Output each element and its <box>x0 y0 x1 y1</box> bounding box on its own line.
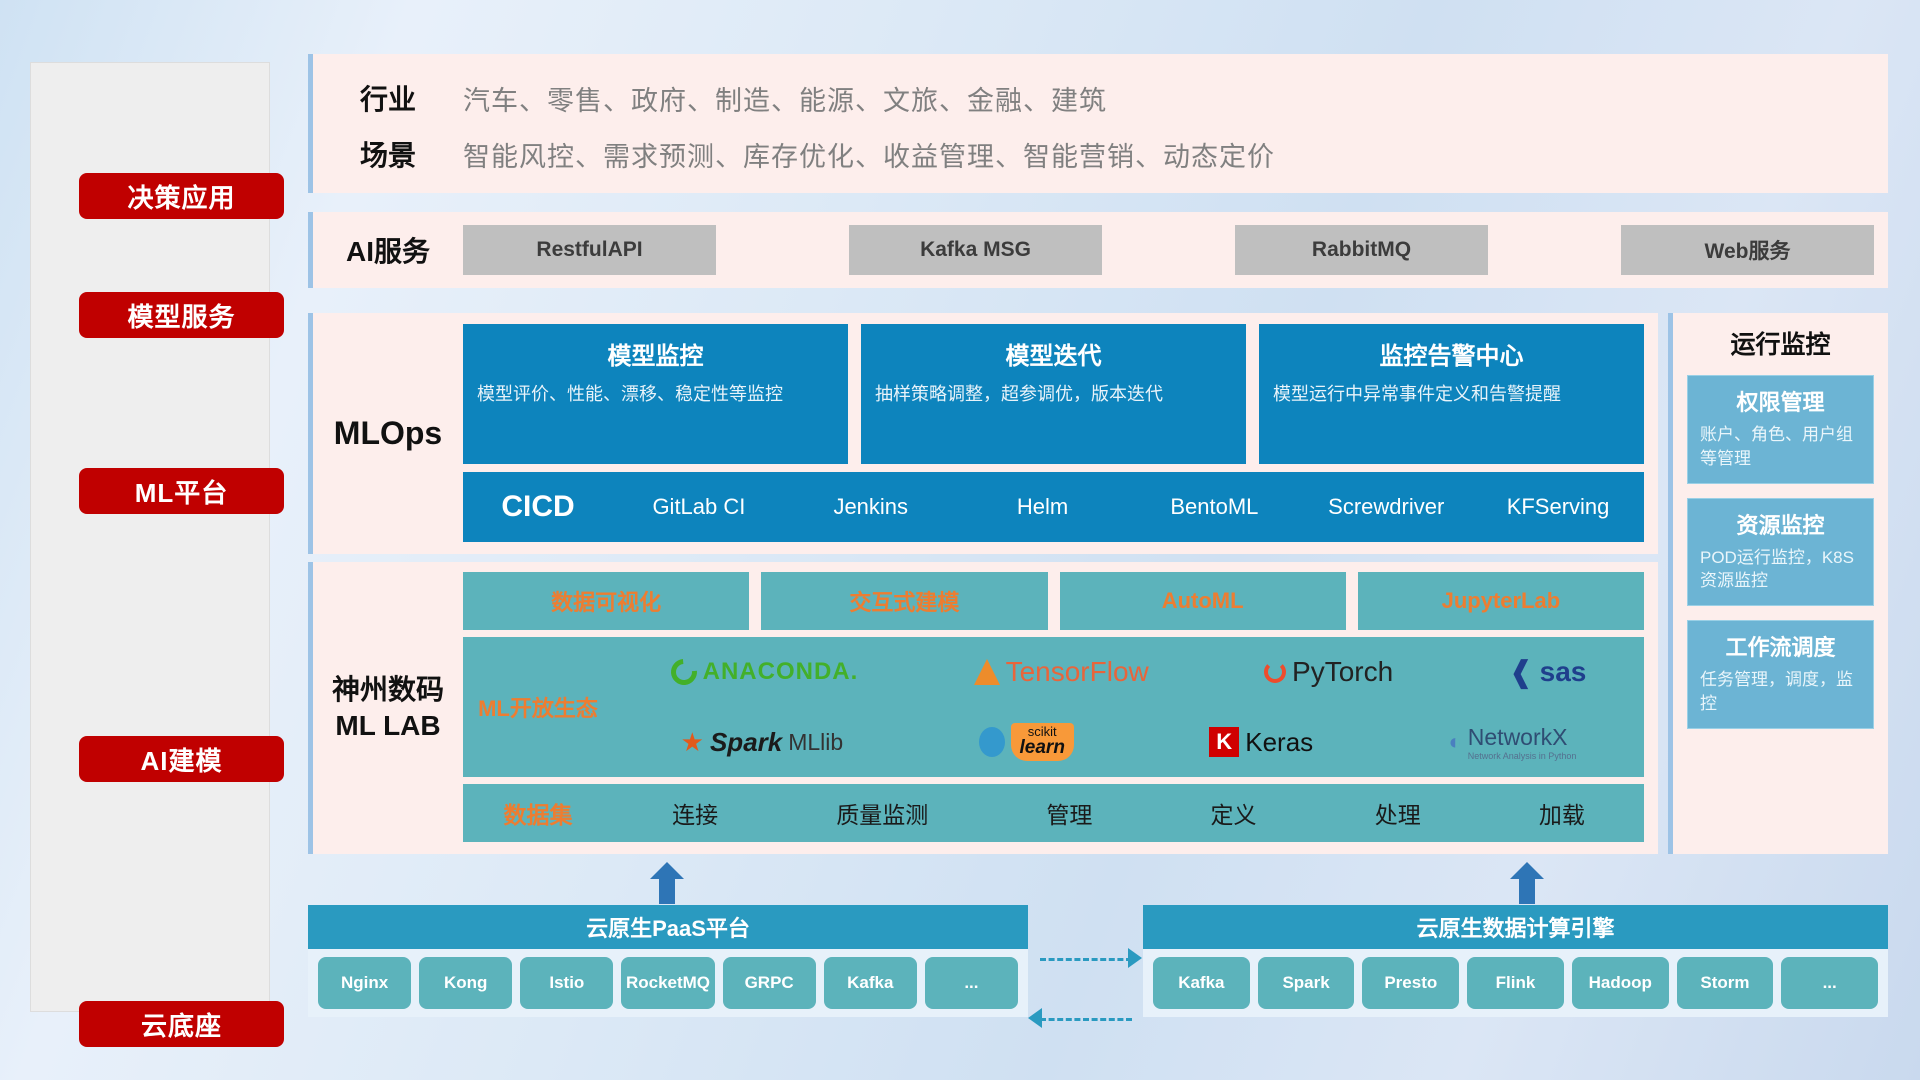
anaconda-ring-icon <box>665 654 702 691</box>
pytorch-flame-icon <box>1264 661 1286 683</box>
mlops-card-desc: 抽样策略调整，超参调优，版本迭代 <box>875 381 1232 407</box>
mlops-card-title: 模型监控 <box>477 336 834 371</box>
mlops-card-title: 模型迭代 <box>875 336 1232 371</box>
connector-dashed-left <box>1040 1018 1132 1021</box>
cloud-chip-kafka-right[interactable]: Kafka <box>1153 957 1250 1009</box>
mllab-content: 数据可视化 交互式建模 AutoML JupyterLab ML开放生态 ANA… <box>463 562 1658 854</box>
dataset-item-define[interactable]: 定义 <box>1211 796 1257 830</box>
mllab-label: 神州数码 ML LAB <box>313 562 463 854</box>
mllab-tool-interactive-modeling[interactable]: 交互式建模 <box>761 572 1047 630</box>
cloud-chip-istio[interactable]: Istio <box>520 957 613 1009</box>
diagram-canvas: 决策应用 模型服务 ML平台 AI建模 云底座 行业 汽车、零售、政府、制造、能… <box>0 0 1920 1080</box>
mllab-label-line1: 神州数码 <box>332 672 444 708</box>
cicd-item-gitlab-ci[interactable]: GitLab CI <box>613 495 785 518</box>
ecosystem-logo-row-1: ANACONDA. TensorFlow PyTorch ❰ sas <box>613 639 1644 705</box>
cloud-paas-title: 云原生PaaS平台 <box>308 905 1028 949</box>
mllab-tool-automl[interactable]: AutoML <box>1060 572 1346 630</box>
mlops-card-title: 监控告警中心 <box>1273 336 1630 371</box>
scenario-row: 场景 智能风控、需求预测、库存优化、收益管理、智能营销、动态定价 <box>313 126 1888 182</box>
mlops-cards: 模型监控 模型评价、性能、漂移、稳定性等监控 模型迭代 抽样策略调整，超参调优，… <box>463 324 1644 464</box>
keras-logo: K Keras <box>1209 727 1313 758</box>
connector-arrowhead-right-icon <box>1128 948 1142 968</box>
cloud-chip-presto[interactable]: Presto <box>1362 957 1459 1009</box>
rail-tag-label: 云底座 <box>141 1006 222 1043</box>
mllab-ecosystem-logos: ANACONDA. TensorFlow PyTorch ❰ sas <box>613 639 1644 775</box>
monitoring-card-title: 权限管理 <box>1700 385 1861 417</box>
connector-arrowhead-left-icon <box>1028 1008 1042 1028</box>
monitoring-title: 运行监控 <box>1687 325 1874 361</box>
cloud-chip-kafka[interactable]: Kafka <box>824 957 917 1009</box>
keras-label: Keras <box>1245 727 1313 758</box>
scikit-pill-icon: scikit learn <box>1011 723 1074 762</box>
cloud-chip-more-right[interactable]: ... <box>1781 957 1878 1009</box>
mllab-ecosystem-row: ML开放生态 ANACONDA. TensorFlow <box>463 637 1644 777</box>
mlops-card-desc: 模型运行中异常事件定义和告警提醒 <box>1273 381 1630 407</box>
mlops-content: 模型监控 模型评价、性能、漂移、稳定性等监控 模型迭代 抽样策略调整，超参调优，… <box>463 313 1658 554</box>
monitoring-card-desc: 任务管理，调度，监控 <box>1700 668 1861 716</box>
connector-dashed-right <box>1040 958 1132 961</box>
cloud-data-engine-items: Kafka Spark Presto Flink Hadoop Storm ..… <box>1143 949 1888 1017</box>
cicd-item-kfserving[interactable]: KFServing <box>1472 495 1644 518</box>
anaconda-label: ANACONDA. <box>703 658 859 686</box>
monitoring-card-permission[interactable]: 权限管理 账户、角色、用户组等管理 <box>1687 375 1874 484</box>
ai-service-band: AI服务 RestfulAPI Kafka MSG RabbitMQ Web服务 <box>308 212 1888 288</box>
networkx-label: NetworkX <box>1468 724 1568 750</box>
monitoring-card-desc: POD运行监控，K8S资源监控 <box>1700 546 1861 594</box>
scikit-blob-icon <box>979 727 1005 757</box>
networkx-logo: ◐ NetworkX Network Analysis in Python <box>1448 724 1576 761</box>
rail-tag-model-service[interactable]: 模型服务 <box>79 292 284 338</box>
mlops-card-desc: 模型评价、性能、漂移、稳定性等监控 <box>477 381 834 407</box>
keras-k-icon: K <box>1209 727 1239 757</box>
rail-tag-label: 决策应用 <box>127 178 235 215</box>
spark-label: Spark <box>710 727 782 758</box>
cloud-chip-storm[interactable]: Storm <box>1677 957 1774 1009</box>
cloud-chip-hadoop[interactable]: Hadoop <box>1572 957 1669 1009</box>
cicd-item-jenkins[interactable]: Jenkins <box>785 495 957 518</box>
cicd-title: CICD <box>463 490 613 524</box>
pytorch-logo: PyTorch <box>1264 656 1393 688</box>
cicd-bar: CICD GitLab CI Jenkins Helm BentoML Scre… <box>463 472 1644 542</box>
industry-values: 汽车、零售、政府、制造、能源、文旅、金融、建筑 <box>463 79 1107 118</box>
industry-row: 行业 汽车、零售、政府、制造、能源、文旅、金融、建筑 <box>313 70 1888 126</box>
rail-tag-ai-modeling[interactable]: AI建模 <box>79 736 284 782</box>
monitoring-card-resource[interactable]: 资源监控 POD运行监控，K8S资源监控 <box>1687 498 1874 607</box>
scenario-label: 场景 <box>313 134 463 174</box>
mllab-ecosystem-label: ML开放生态 <box>463 691 613 723</box>
mlops-card-model-iteration[interactable]: 模型迭代 抽样策略调整，超参调优，版本迭代 <box>861 324 1246 464</box>
mlops-card-alert-center[interactable]: 监控告警中心 模型运行中异常事件定义和告警提醒 <box>1259 324 1644 464</box>
scenario-values: 智能风控、需求预测、库存优化、收益管理、智能营销、动态定价 <box>463 135 1275 174</box>
cloud-chip-grpc[interactable]: GRPC <box>723 957 816 1009</box>
monitoring-card-workflow[interactable]: 工作流调度 任务管理，调度，监控 <box>1687 620 1874 729</box>
dataset-items: 连接 质量监测 管理 定义 处理 加载 <box>613 796 1644 830</box>
dataset-item-quality[interactable]: 质量监测 <box>836 796 928 830</box>
cloud-data-engine-title: 云原生数据计算引擎 <box>1143 905 1888 949</box>
spark-star-icon: ★ <box>681 727 704 758</box>
sas-label: sas <box>1540 656 1587 688</box>
spark-mllib-logo: ★ Spark MLlib <box>681 727 844 758</box>
dataset-item-load[interactable]: 加载 <box>1539 796 1585 830</box>
up-arrow-data-engine-icon <box>1510 862 1544 904</box>
up-arrow-paas-icon <box>650 862 684 904</box>
mllab-tools: 数据可视化 交互式建模 AutoML JupyterLab <box>463 572 1644 630</box>
cloud-chip-spark[interactable]: Spark <box>1258 957 1355 1009</box>
ai-service-items: RestfulAPI Kafka MSG RabbitMQ Web服务 <box>463 225 1888 275</box>
cloud-data-engine-section: 云原生数据计算引擎 Kafka Spark Presto Flink Hadoo… <box>1143 905 1888 1017</box>
ai-service-chip-rabbitmq[interactable]: RabbitMQ <box>1235 225 1488 275</box>
scikit-bottom-label: learn <box>1020 737 1065 758</box>
ai-service-chip-kafka-msg[interactable]: Kafka MSG <box>849 225 1102 275</box>
pytorch-label: PyTorch <box>1292 656 1393 688</box>
dataset-row: 数据集 连接 质量监测 管理 定义 处理 加载 <box>463 784 1644 842</box>
monitoring-card-desc: 账户、角色、用户组等管理 <box>1700 423 1861 471</box>
cicd-item-helm[interactable]: Helm <box>957 495 1129 518</box>
cloud-chip-flink[interactable]: Flink <box>1467 957 1564 1009</box>
sas-logo: ❰ sas <box>1508 655 1586 690</box>
cicd-item-screwdriver[interactable]: Screwdriver <box>1300 495 1472 518</box>
rail-tag-ml-platform[interactable]: ML平台 <box>79 468 284 514</box>
tensorflow-mark-icon <box>974 659 1000 685</box>
dataset-item-process[interactable]: 处理 <box>1375 796 1421 830</box>
cicd-item-bentoml[interactable]: BentoML <box>1128 495 1300 518</box>
mllab-tool-data-viz[interactable]: 数据可视化 <box>463 572 749 630</box>
mllab-tool-jupyterlab[interactable]: JupyterLab <box>1358 572 1644 630</box>
cloud-chip-more[interactable]: ... <box>925 957 1018 1009</box>
cloud-chip-rocketmq[interactable]: RocketMQ <box>621 957 714 1009</box>
industry-band: 行业 汽车、零售、政府、制造、能源、文旅、金融、建筑 场景 智能风控、需求预测、… <box>308 54 1888 193</box>
networkx-graph-icon: ◐ <box>1448 729 1461 755</box>
cloud-chip-nginx[interactable]: Nginx <box>318 957 411 1009</box>
rail-tag-label: 模型服务 <box>127 297 235 334</box>
mllab-label-line2: ML LAB <box>335 708 440 744</box>
ai-service-label: AI服务 <box>313 230 463 270</box>
rail-tag-decision-app[interactable]: 决策应用 <box>79 173 284 219</box>
dataset-item-connect[interactable]: 连接 <box>672 796 718 830</box>
anaconda-logo: ANACONDA. <box>671 658 859 686</box>
mlops-band: MLOps 模型监控 模型评价、性能、漂移、稳定性等监控 模型迭代 抽样策略调整… <box>308 313 1658 554</box>
cloud-paas-items: Nginx Kong Istio RocketMQ GRPC Kafka ... <box>308 949 1028 1017</box>
networkx-sublabel: Network Analysis in Python <box>1468 751 1577 761</box>
mlops-label: MLOps <box>313 313 463 554</box>
tensorflow-logo: TensorFlow <box>974 656 1149 688</box>
mllab-band: 神州数码 ML LAB 数据可视化 交互式建模 AutoML JupyterLa… <box>308 562 1658 854</box>
rail-tag-label: AI建模 <box>140 741 222 778</box>
ecosystem-logo-row-2: ★ Spark MLlib scikit learn K <box>613 709 1644 775</box>
cloud-paas-section: 云原生PaaS平台 Nginx Kong Istio RocketMQ GRPC… <box>308 905 1028 1017</box>
scikit-learn-logo: scikit learn <box>979 723 1074 762</box>
industry-label: 行业 <box>313 78 463 118</box>
mlops-card-model-monitor[interactable]: 模型监控 模型评价、性能、漂移、稳定性等监控 <box>463 324 848 464</box>
sas-swirl-icon: ❰ <box>1508 655 1533 690</box>
dataset-label: 数据集 <box>463 796 613 830</box>
ai-service-chip-restfulapi[interactable]: RestfulAPI <box>463 225 716 275</box>
rail-tag-label: ML平台 <box>135 473 229 510</box>
ai-service-chip-web[interactable]: Web服务 <box>1621 225 1874 275</box>
monitoring-card-title: 工作流调度 <box>1700 630 1861 662</box>
cloud-chip-kong[interactable]: Kong <box>419 957 512 1009</box>
monitoring-card-title: 资源监控 <box>1700 508 1861 540</box>
left-rail: 决策应用 模型服务 ML平台 AI建模 云底座 <box>30 62 270 1012</box>
tensorflow-label: TensorFlow <box>1006 656 1149 688</box>
dataset-item-manage[interactable]: 管理 <box>1046 796 1092 830</box>
monitoring-column: 运行监控 权限管理 账户、角色、用户组等管理 资源监控 POD运行监控，K8S资… <box>1668 313 1888 854</box>
rail-tag-cloud-base[interactable]: 云底座 <box>79 1001 284 1047</box>
mllib-label: MLlib <box>788 729 843 756</box>
